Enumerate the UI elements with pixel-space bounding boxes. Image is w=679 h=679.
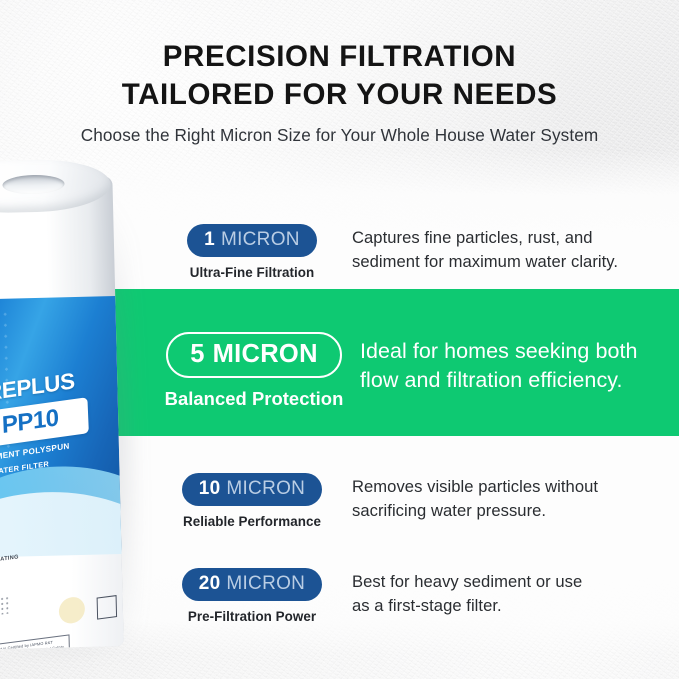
description-column-10-micron: Removes visible particles without sacrif… <box>352 473 652 522</box>
page-title-line-1: PRECISION FILTRATION <box>0 38 679 76</box>
cup-fork-icon <box>97 595 117 620</box>
description-line-1b: sediment for maximum water clarity. <box>352 250 652 274</box>
description-line-5b: flow and filtration efficiency. <box>360 366 670 395</box>
micron-sublabel-20: Pre-Filtration Power <box>152 609 352 624</box>
spec-row-1-micron: 1 MICRON Ultra-Fine Filtration Captures … <box>152 224 652 280</box>
micron-badge-20: 20 MICRON <box>182 568 322 601</box>
page-title-line-2: TAILORED FOR YOUR NEEDS <box>0 76 679 114</box>
filter-label-blue: PUREPLUS PP10 SEDIMENT POLYSPUN WATER FI… <box>0 296 122 560</box>
product-model-text: PP10 <box>0 400 89 444</box>
micron-number-1: 1 <box>204 229 215 251</box>
description-line-1a: Captures fine particles, rust, and <box>352 226 652 250</box>
micron-unit-5: MICRON <box>213 340 318 369</box>
description-line-5a: Ideal for homes seeking both <box>360 337 670 366</box>
spec-row-10-micron: 10 MICRON Reliable Performance Removes v… <box>152 473 652 529</box>
micron-badge-5: 5 MICRON <box>166 332 342 378</box>
micron-unit-10: MICRON <box>226 478 305 500</box>
nsf-seal-icon <box>59 596 86 625</box>
header-block: PRECISION FILTRATION TAILORED FOR YOUR N… <box>0 38 679 146</box>
description-line-10a: Removes visible particles without <box>352 475 652 499</box>
description-line-20a: Best for heavy sediment or use <box>352 570 652 594</box>
micron-sublabel-5: Balanced Protection <box>148 388 360 410</box>
description-column-1-micron: Captures fine particles, rust, and sedim… <box>352 224 652 273</box>
infographic-canvas: PRECISION FILTRATION TAILORED FOR YOUR N… <box>0 0 679 679</box>
micron-sublabel-1: Ultra-Fine Filtration <box>152 265 352 280</box>
micron-badge-10: 10 MICRON <box>182 473 322 506</box>
filter-label-white: NOMINAL MICRON RATING 5 Micron Particles… <box>0 554 124 650</box>
micron-unit-1: MICRON <box>221 229 300 251</box>
filter-cartridge-body: PUREPLUS PP10 SEDIMENT POLYSPUN WATER FI… <box>0 176 124 650</box>
badge-column-1-micron: 1 MICRON Ultra-Fine Filtration <box>152 224 352 280</box>
particle-dots-icon <box>0 595 11 616</box>
micron-sublabel-10: Reliable Performance <box>152 514 352 529</box>
product-filter-image: PUREPLUS PP10 SEDIMENT POLYSPUN WATER FI… <box>0 158 138 662</box>
micron-rating-label: NOMINAL MICRON RATING <box>0 554 19 570</box>
badge-column-10-micron: 10 MICRON Reliable Performance <box>152 473 352 529</box>
micron-number-5: 5 <box>190 340 204 369</box>
description-column-5-micron: Ideal for homes seeking both flow and fi… <box>360 332 670 394</box>
spec-row-20-micron: 20 MICRON Pre-Filtration Power Best for … <box>152 568 652 624</box>
page-subtitle: Choose the Right Micron Size for Your Wh… <box>0 125 679 146</box>
description-line-10b: sacrificing water pressure. <box>352 499 652 523</box>
badge-column-5-micron: 5 MICRON Balanced Protection <box>148 332 360 410</box>
spec-row-5-micron: 5 MICRON Balanced Protection Ideal for h… <box>148 332 670 410</box>
micron-badge-1: 1 MICRON <box>187 224 317 257</box>
micron-unit-20: MICRON <box>226 573 305 595</box>
badge-column-20-micron: 20 MICRON Pre-Filtration Power <box>152 568 352 624</box>
micron-number-10: 10 <box>199 478 221 500</box>
micron-number-20: 20 <box>199 573 221 595</box>
description-column-20-micron: Best for heavy sediment or use as a firs… <box>352 568 652 617</box>
description-line-20b: as a first-stage filter. <box>352 594 652 618</box>
